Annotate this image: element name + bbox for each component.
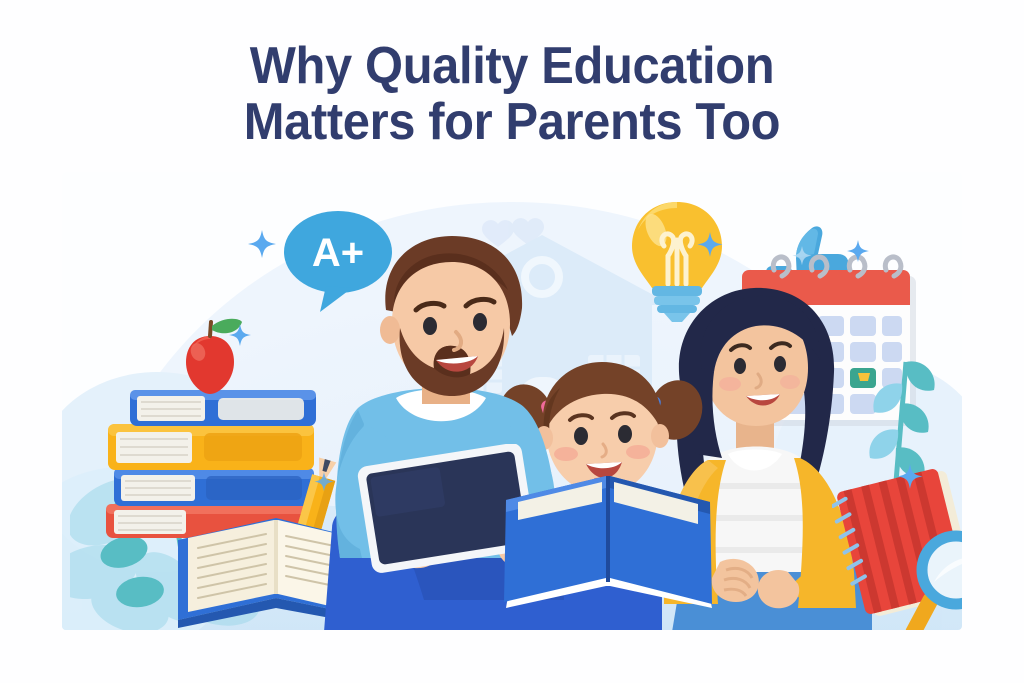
page-title-line-1: Why Quality Education [31, 38, 994, 94]
page-title-line-2: Matters for Parents Too [31, 94, 994, 150]
hero-illustration: A+ [62, 172, 962, 630]
page-title: Why Quality Education Matters for Parent… [0, 38, 1024, 150]
page-canvas: Why Quality Education Matters for Parent… [0, 0, 1024, 683]
sparkle-icons [62, 172, 962, 630]
